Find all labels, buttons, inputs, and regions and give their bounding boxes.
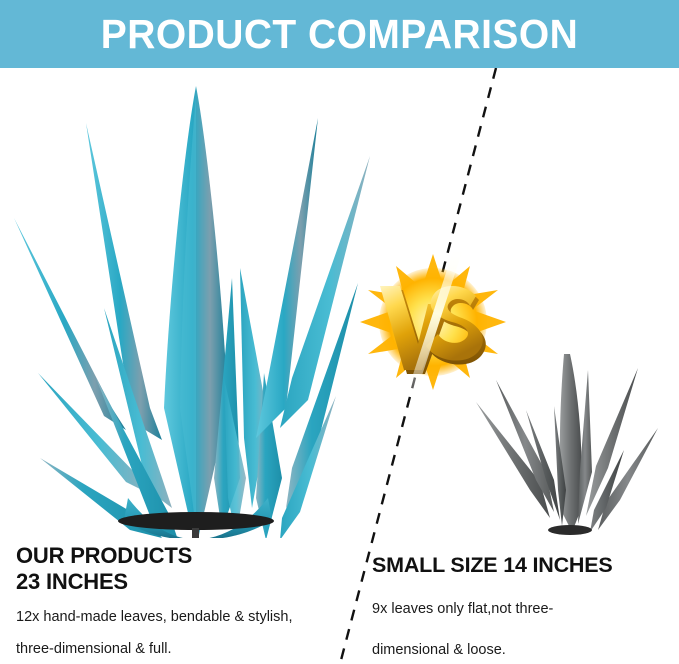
right-heading-line1: SMALL SIZE 14 INCHES xyxy=(372,552,672,578)
left-product-image xyxy=(0,78,400,538)
right-caption-block: SMALL SIZE 14 INCHES 9x leaves only flat… xyxy=(372,552,672,660)
right-description-line2: dimensional & loose. xyxy=(372,641,672,660)
left-description-line2: three-dimensional & full. xyxy=(16,640,346,659)
grey-leaf-group-center xyxy=(554,354,592,532)
left-caption-block: OUR PRODUCTS 23 INCHES 12x hand-made lea… xyxy=(16,543,346,659)
product-base-plate xyxy=(118,512,274,538)
grey-leaf-group-right xyxy=(586,368,658,532)
grey-leaf-group-left xyxy=(476,380,560,520)
right-description-line1: 9x leaves only flat,not three- xyxy=(372,600,672,619)
left-heading-line1: OUR PRODUCTS xyxy=(16,543,346,569)
product-comparison-page: PRODUCT COMPARISON xyxy=(0,0,679,664)
page-title: PRODUCT COMPARISON xyxy=(17,0,662,68)
left-heading-line2: 23 INCHES xyxy=(16,569,346,595)
left-description-line1: 12x hand-made leaves, bendable & stylish… xyxy=(16,608,346,627)
grey-product-base xyxy=(548,525,592,535)
vs-badge: VS xyxy=(358,252,508,392)
